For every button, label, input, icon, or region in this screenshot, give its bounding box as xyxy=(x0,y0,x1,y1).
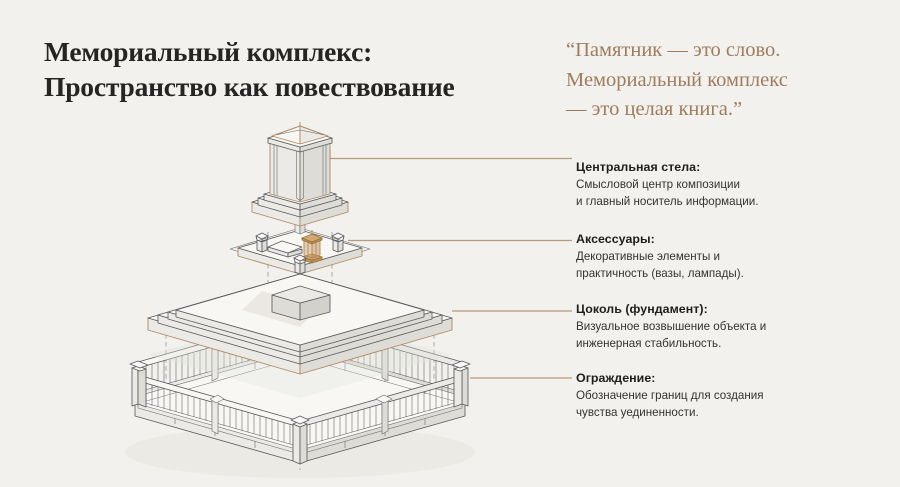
accessory-vase-south xyxy=(294,255,306,274)
fence-post-east xyxy=(452,361,470,407)
fence-post-west xyxy=(130,361,148,407)
accessory-vase-east xyxy=(332,233,344,252)
part-central-stela xyxy=(252,122,348,226)
infographic-page: Мемориальный комплекс: Пространство как … xyxy=(0,0,900,487)
exploded-isometric-diagram: .ln { fill:none; stroke:#5c5d60; stroke-… xyxy=(0,0,900,487)
accessory-vase-west xyxy=(256,233,268,252)
